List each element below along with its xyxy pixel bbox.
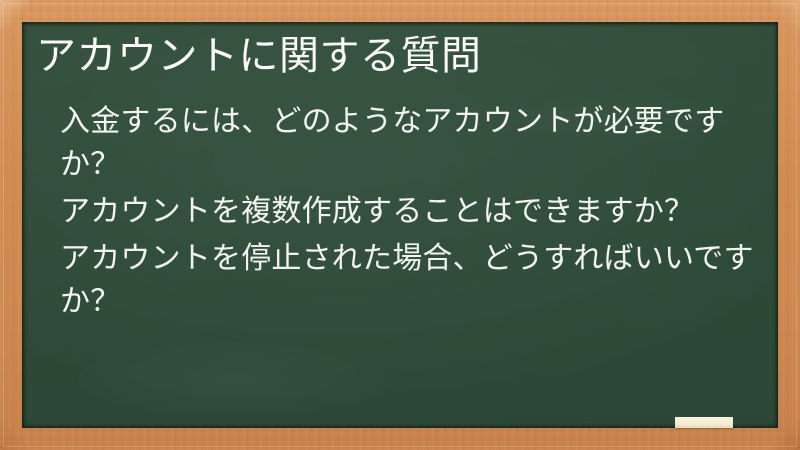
question-list: 入金するには、どのようなアカウントが必要ですか？ アカウントを複数作成することは… bbox=[36, 100, 760, 327]
chalkboard-slide: アカウントに関する質問 入金するには、どのようなアカウントが必要ですか？ アカウ… bbox=[0, 0, 800, 450]
question-item-1: 入金するには、どのようなアカウントが必要ですか？ bbox=[36, 100, 760, 186]
frame-top-rail bbox=[0, 0, 800, 22]
chalk-stick-icon bbox=[675, 417, 733, 428]
question-item-3: アカウントを停止された場合、どうすればいいですか？ bbox=[36, 237, 760, 323]
chalkboard-surface: アカウントに関する質問 入金するには、どのようなアカウントが必要ですか？ アカウ… bbox=[22, 22, 778, 428]
frame-bottom-rail bbox=[0, 428, 800, 450]
slide-title: アカウントに関する質問 bbox=[36, 30, 756, 82]
question-item-2: アカウントを複数作成することはできますか？ bbox=[36, 190, 760, 233]
